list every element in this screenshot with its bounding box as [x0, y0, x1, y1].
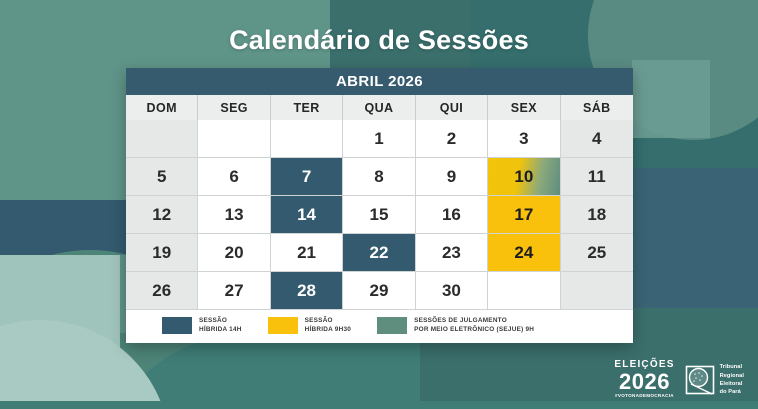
- weekday-qua: QUA: [343, 95, 415, 120]
- day-cell-7[interactable]: 7: [271, 158, 343, 196]
- day-cell-25[interactable]: 25: [561, 234, 633, 272]
- day-cell-empty: [488, 272, 560, 310]
- day-cell-18[interactable]: 18: [561, 196, 633, 234]
- weekday-ter: TER: [271, 95, 343, 120]
- day-cell-17[interactable]: 17: [488, 196, 560, 234]
- day-cell-5[interactable]: 5: [126, 158, 198, 196]
- tre-emblem-icon: [685, 365, 715, 395]
- day-cell-10[interactable]: 10: [488, 158, 560, 196]
- eleicoes-year: 2026: [614, 371, 674, 393]
- legend-label-line1: SESSÃO: [305, 317, 351, 325]
- legend-label-line2: HÍBRIDA 14H: [199, 326, 242, 334]
- calendar-legend: SESSÃOHÍBRIDA 14HSESSÃOHÍBRIDA 9H30SESSÕ…: [126, 310, 633, 343]
- calendar-week-row: 1234: [126, 120, 633, 158]
- day-cell-19[interactable]: 19: [126, 234, 198, 272]
- legend-label: SESSÕES DE JULGAMENTOPOR MEIO ELETRÔNICO…: [414, 317, 534, 334]
- day-cell-26[interactable]: 26: [126, 272, 198, 310]
- day-cell-3[interactable]: 3: [488, 120, 560, 158]
- day-cell-2[interactable]: 2: [416, 120, 488, 158]
- day-cell-empty: [198, 120, 270, 158]
- legend-swatch-yellow: [268, 317, 298, 334]
- tre-line-1: Tribunal: [720, 363, 744, 371]
- day-cell-21[interactable]: 21: [271, 234, 343, 272]
- day-cell-empty: [561, 272, 633, 310]
- eleicoes-hashtag: #VOTONADEMOCRACIA: [614, 394, 674, 399]
- calendar-week-row: 2627282930: [126, 272, 633, 310]
- day-cell-20[interactable]: 20: [198, 234, 270, 272]
- month-header: ABRIL 2026: [126, 68, 633, 95]
- day-cell-15[interactable]: 15: [343, 196, 415, 234]
- day-cell-24[interactable]: 24: [488, 234, 560, 272]
- day-cell-6[interactable]: 6: [198, 158, 270, 196]
- legend-item-blue: SESSÃOHÍBRIDA 14H: [162, 317, 242, 334]
- page-title: Calendário de Sessões: [0, 25, 758, 56]
- tre-pa-logo: Tribunal Regional Eleitoral do Pará: [685, 363, 744, 395]
- legend-label-line1: SESSÃO: [199, 317, 242, 325]
- weekday-dom: DOM: [126, 95, 198, 120]
- eleicoes-2026-logo: ELEIÇÕES 2026 #VOTONADEMOCRACIA: [614, 360, 674, 399]
- calendar-week-row: 19202122232425: [126, 234, 633, 272]
- day-cell-1[interactable]: 1: [343, 120, 415, 158]
- calendar-weeks: 1234567891011121314151617181920212223242…: [126, 120, 633, 310]
- background-square-light: [632, 60, 710, 138]
- day-cell-16[interactable]: 16: [416, 196, 488, 234]
- day-cell-14[interactable]: 14: [271, 196, 343, 234]
- day-cell-29[interactable]: 29: [343, 272, 415, 310]
- legend-label: SESSÃOHÍBRIDA 9H30: [305, 317, 351, 334]
- day-cell-4[interactable]: 4: [561, 120, 633, 158]
- legend-label-line2: POR MEIO ELETRÔNICO (SEJUE) 9H: [414, 326, 534, 334]
- weekday-seg: SEG: [198, 95, 270, 120]
- calendar-week-row: 12131415161718: [126, 196, 633, 234]
- day-cell-23[interactable]: 23: [416, 234, 488, 272]
- calendar-week-row: 567891011: [126, 158, 633, 196]
- day-cell-empty: [126, 120, 198, 158]
- day-cell-9[interactable]: 9: [416, 158, 488, 196]
- tre-name-text: Tribunal Regional Eleitoral do Pará: [720, 363, 744, 395]
- legend-label: SESSÃOHÍBRIDA 14H: [199, 317, 242, 334]
- tre-line-2: Regional: [720, 372, 744, 380]
- day-cell-11[interactable]: 11: [561, 158, 633, 196]
- weekday-qui: QUI: [416, 95, 488, 120]
- legend-label-line1: SESSÕES DE JULGAMENTO: [414, 317, 534, 325]
- weekday-header-row: DOM SEG TER QUA QUI SEX SÁB: [126, 95, 633, 120]
- day-cell-27[interactable]: 27: [198, 272, 270, 310]
- day-cell-12[interactable]: 12: [126, 196, 198, 234]
- day-cell-empty: [271, 120, 343, 158]
- footer-logos: ELEIÇÕES 2026 #VOTONADEMOCRACIA Tribunal…: [614, 360, 744, 399]
- day-cell-8[interactable]: 8: [343, 158, 415, 196]
- day-cell-22[interactable]: 22: [343, 234, 415, 272]
- legend-label-line2: HÍBRIDA 9H30: [305, 326, 351, 334]
- legend-item-yellow: SESSÃOHÍBRIDA 9H30: [268, 317, 351, 334]
- legend-swatch-green: [377, 317, 407, 334]
- legend-swatch-blue: [162, 317, 192, 334]
- day-cell-30[interactable]: 30: [416, 272, 488, 310]
- tre-line-3: Eleitoral: [720, 380, 744, 388]
- day-cell-28[interactable]: 28: [271, 272, 343, 310]
- background-bottom-strip: [0, 401, 758, 409]
- legend-item-green: SESSÕES DE JULGAMENTOPOR MEIO ELETRÔNICO…: [377, 317, 534, 334]
- calendar-card: ABRIL 2026 DOM SEG TER QUA QUI SEX SÁB 1…: [126, 68, 633, 343]
- tre-line-4: do Pará: [720, 388, 744, 396]
- weekday-sab: SÁB: [561, 95, 633, 120]
- day-cell-13[interactable]: 13: [198, 196, 270, 234]
- weekday-sex: SEX: [488, 95, 560, 120]
